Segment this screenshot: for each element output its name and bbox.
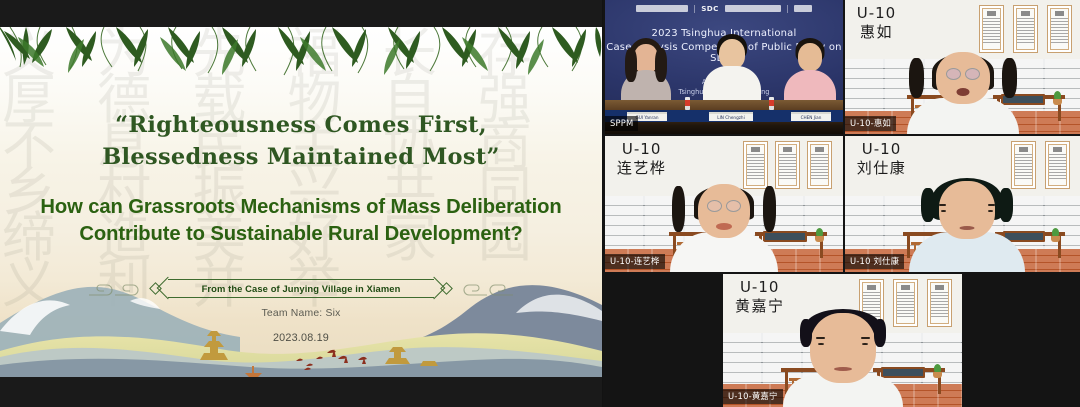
sponsor-logo-bar: SDC xyxy=(605,3,843,14)
panelist-left xyxy=(617,38,675,104)
participant-name-label: SPPM xyxy=(605,116,638,131)
participant-avatar-huangjianing xyxy=(778,289,908,407)
water-bottle-2-icon xyxy=(769,97,774,110)
overlay-code: U-10 xyxy=(857,141,907,158)
slide-quote: “Righteousness Comes First, Blessedness … xyxy=(0,109,602,173)
plant-icon xyxy=(933,363,942,378)
overlay-name-huiru: U-10 惠如 xyxy=(857,5,896,41)
plant-icon xyxy=(1053,90,1062,105)
poster-3 xyxy=(1047,5,1072,53)
video-tile-huiru[interactable]: U-10 惠如 U-10-惠如 xyxy=(845,0,1080,134)
sdc-logo-text: SDC xyxy=(701,4,719,13)
plant-icon xyxy=(1051,227,1060,242)
org-logo-3-icon xyxy=(725,5,781,12)
participant-name-label: U-10 刘仕康 xyxy=(845,254,904,269)
participant-avatar-liushikang xyxy=(905,160,1029,272)
placard-right: CHEN Jian xyxy=(791,112,831,121)
overlay-chinese-name: 刘仕康 xyxy=(857,160,907,177)
overlay-chinese-name: 惠如 xyxy=(857,24,896,41)
slide-quote-line2: Blessedness Maintained Most” xyxy=(0,141,602,173)
presentation-slide[interactable]: 义 为 先 福 长 存 厚 德 载 物 自 强 不 息 民 主 协 商 乡 村 … xyxy=(0,27,602,377)
participant-avatar-lianyihua xyxy=(664,166,784,272)
panelist-center xyxy=(701,34,763,104)
cloud-scroll-left-icon xyxy=(87,275,151,301)
cloud-scroll-right-icon xyxy=(451,275,515,301)
slide-headline: How can Grassroots Mechanisms of Mass De… xyxy=(24,194,578,248)
overlay-chinese-name: 连艺桦 xyxy=(617,160,667,177)
overlay-name-lianyihua: U-10 连艺桦 xyxy=(617,141,667,177)
slide-headline-line1: How can Grassroots Mechanisms of Mass De… xyxy=(40,196,561,218)
poster-3 xyxy=(927,279,952,327)
slide-date: 2023.08.19 xyxy=(0,332,602,344)
overlay-code: U-10 xyxy=(857,5,896,22)
participant-name-label: U-10-黄嘉宁 xyxy=(723,389,783,404)
org-logo-4-icon xyxy=(794,5,812,12)
slide-team-name: Team Name: Six xyxy=(0,308,602,319)
logo-divider xyxy=(694,5,695,13)
participant-avatar-huiru xyxy=(903,42,1023,134)
overlay-name-liushikang: U-10 刘仕康 xyxy=(857,141,907,177)
video-tile-huangjianing[interactable]: U-10 黄嘉宁 U-10-黄嘉宁 xyxy=(723,274,962,407)
participant-name-label: U-10-惠如 xyxy=(845,116,896,131)
poster-2 xyxy=(1045,141,1070,189)
slide-ribbon-label: From the Case of Junying Village in Xiam… xyxy=(168,279,435,298)
video-tile-conference-panel[interactable]: SDC 2023 Tsinghua International Case Ana… xyxy=(605,0,843,134)
placard-center: LIN Chengzhi xyxy=(709,112,753,121)
gallery-grid: SDC 2023 Tsinghua International Case Ana… xyxy=(603,0,1080,407)
poster-3 xyxy=(807,141,832,189)
conference-room-video: SDC 2023 Tsinghua International Case Ana… xyxy=(605,0,843,134)
meeting-window: 义 为 先 福 长 存 厚 德 载 物 自 强 不 息 民 主 协 商 乡 村 … xyxy=(0,0,1080,407)
water-bottle-1-icon xyxy=(685,97,690,110)
participant-name-label: U-10-连艺桦 xyxy=(605,254,665,269)
video-tile-liushikang[interactable]: U-10 刘仕康 U-10 刘仕康 xyxy=(845,136,1080,272)
slide-headline-line2: Contribute to Sustainable Rural Developm… xyxy=(24,221,578,248)
slide-ribbon-row: From the Case of Junying Village in Xiam… xyxy=(0,275,602,301)
overlay-name-huangjianing: U-10 黄嘉宁 xyxy=(735,279,785,315)
org-logo-1-icon xyxy=(636,5,688,12)
shared-screen-pane[interactable]: 义 为 先 福 长 存 厚 德 载 物 自 强 不 息 民 主 协 商 乡 村 … xyxy=(0,0,602,407)
overlay-code: U-10 xyxy=(735,279,785,296)
plant-icon xyxy=(815,227,824,242)
overlay-chinese-name: 黄嘉宁 xyxy=(735,298,785,315)
panelist-right xyxy=(781,38,839,104)
overlay-code: U-10 xyxy=(617,141,667,158)
video-tile-lianyihua[interactable]: U-10 连艺桦 U-10-连艺桦 xyxy=(605,136,843,272)
slide-quote-line1: “Righteousness Comes First, xyxy=(115,112,487,138)
logo-divider-2 xyxy=(787,5,788,13)
